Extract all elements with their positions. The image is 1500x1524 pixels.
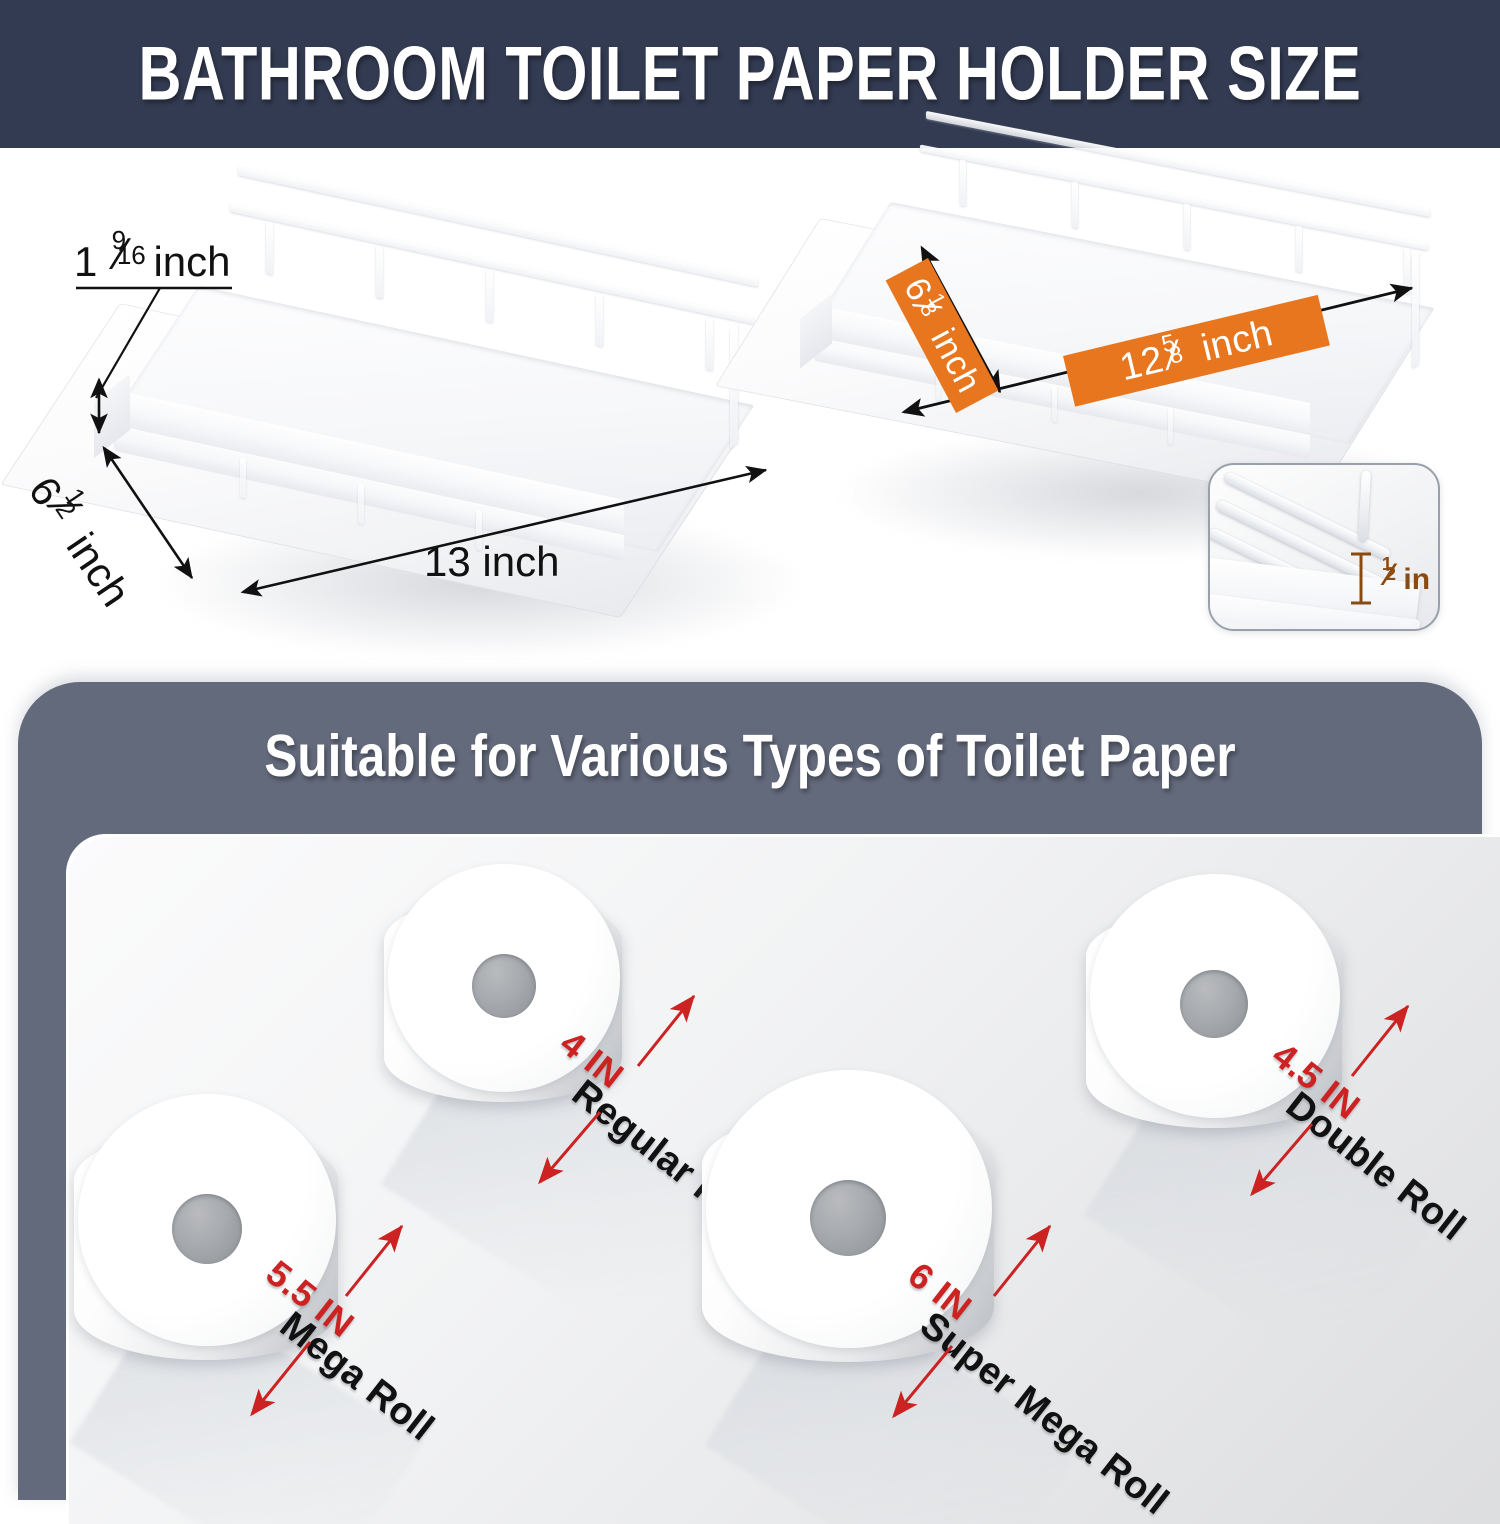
tray-front-groove xyxy=(1168,408,1173,445)
dimension-height-label: 1 9⁄16 inch xyxy=(74,234,231,286)
header-banner: BATHROOM TOILET PAPER HOLDER SIZE xyxy=(0,0,1500,148)
tray-rail-post xyxy=(1184,203,1190,250)
tray-rail-post xyxy=(376,245,383,298)
tray-rail-post xyxy=(1296,225,1302,272)
tray-rail-post xyxy=(596,293,603,346)
tray-rail-post xyxy=(266,221,273,274)
tray-rail-post xyxy=(960,159,966,206)
roll-types-panel: Suitable for Various Types of Toilet Pap… xyxy=(18,682,1482,1500)
tray-rail-post xyxy=(486,269,493,322)
dimensions-section: 1 9⁄16 inch 61⁄2 inch 13 inch 61⁄8 in xyxy=(0,148,1500,660)
tray-rail-post xyxy=(1404,247,1410,294)
tray-rail-post xyxy=(706,317,713,370)
roll-core-hole xyxy=(172,1194,242,1264)
tray-front-groove xyxy=(240,457,246,498)
lip-height-label: 1⁄2in xyxy=(1380,559,1430,597)
tray-front-groove xyxy=(358,483,364,524)
roll-core-hole xyxy=(1180,970,1248,1038)
roll-core-hole xyxy=(810,1180,886,1256)
tray-right-rail xyxy=(1412,251,1419,368)
roll-types-section: Suitable for Various Types of Toilet Pap… xyxy=(0,660,1500,1500)
dimension-length-label: 13 inch xyxy=(424,538,559,586)
tray-front-groove xyxy=(1052,386,1057,423)
lip-height-inset: 1⁄2in xyxy=(1208,463,1440,631)
roll-core-hole xyxy=(472,954,536,1018)
roll-types-card: 5.5 IN Mega Roll 4 IN Regular Roll xyxy=(66,834,1500,1524)
tray-rail-post xyxy=(1072,181,1078,228)
inset-dimension-marker xyxy=(1210,465,1440,631)
roll-types-title: Suitable for Various Types of Toilet Pap… xyxy=(40,721,1460,789)
page-title: BATHROOM TOILET PAPER HOLDER SIZE xyxy=(139,31,1362,118)
